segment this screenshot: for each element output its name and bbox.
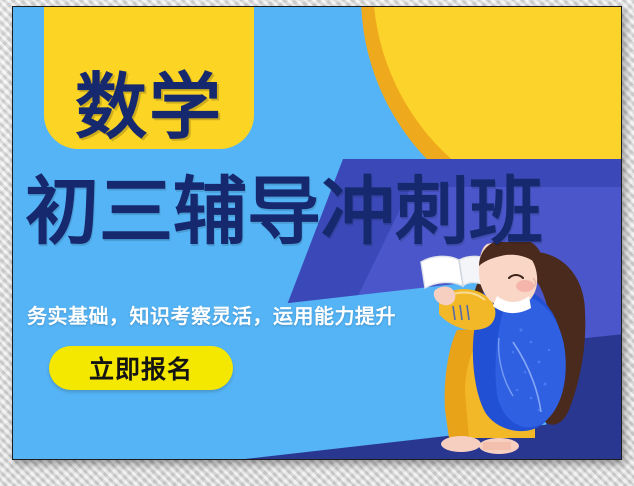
page-title: 初三辅导冲刺班 — [25, 175, 609, 249]
subject-badge-label: 数学 — [75, 71, 223, 143]
promotional-poster: 数学 — [12, 6, 622, 460]
enroll-now-button[interactable]: 立即报名 — [49, 346, 233, 390]
poster-subtitle: 务实基础，知识考察灵活，运用能力提升 — [27, 300, 396, 329]
subject-badge: 数学 — [44, 6, 254, 149]
page-backdrop: 数学 — [0, 0, 634, 486]
enroll-now-button-label: 立即报名 — [89, 350, 193, 386]
girl-reading-book-illustration — [413, 242, 622, 459]
